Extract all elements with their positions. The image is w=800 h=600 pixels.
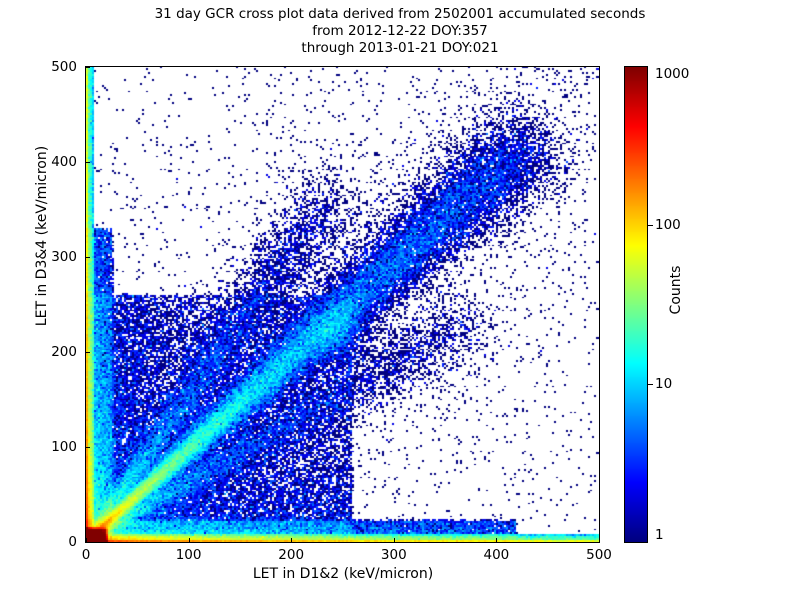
chart-title-line-1: 31 day GCR cross plot data derived from … <box>0 6 800 23</box>
x-tick-mark <box>291 538 292 542</box>
colorbar-canvas <box>625 67 647 542</box>
y-tick-mark <box>86 447 90 448</box>
x-tick-mark <box>394 538 395 542</box>
y-tick-label: 0 <box>29 534 77 550</box>
x-tick-mark <box>599 538 600 542</box>
x-tick-label: 200 <box>278 547 304 563</box>
colorbar-title: Counts <box>668 220 684 360</box>
x-tick-label: 0 <box>82 547 91 563</box>
y-tick-label: 100 <box>29 439 77 455</box>
heatmap-layer <box>86 67 599 542</box>
y-tick-mark <box>86 67 90 68</box>
x-tick-label: 300 <box>381 547 407 563</box>
colorbar-tick-label: 10 <box>655 376 672 392</box>
y-tick-mark <box>86 352 90 353</box>
chart-title: 31 day GCR cross plot data derived from … <box>0 6 800 57</box>
y-tick-mark <box>86 162 90 163</box>
x-axis-label: LET in D1&2 (keV/micron) <box>0 566 686 582</box>
colorbar-tick-mark <box>648 225 653 226</box>
x-tick-label: 500 <box>586 547 612 563</box>
colorbar-tick-label: 1 <box>655 527 664 543</box>
y-tick-label: 500 <box>29 59 77 75</box>
x-tick-label: 400 <box>484 547 510 563</box>
colorbar[interactable]: 1000100101 <box>624 66 648 543</box>
y-tick-mark <box>86 257 90 258</box>
figure-canvas: 31 day GCR cross plot data derived from … <box>0 0 800 600</box>
x-tick-mark <box>496 538 497 542</box>
colorbar-tick-mark <box>648 384 653 385</box>
y-tick-mark <box>86 542 90 543</box>
x-tick-mark <box>189 538 190 542</box>
colorbar-gradient <box>624 66 648 543</box>
y-axis-label: LET in D3&4 (keV/micron) <box>34 106 50 366</box>
colorbar-tick-label: 1000 <box>655 66 689 82</box>
plot-area[interactable] <box>85 66 600 543</box>
x-tick-label: 100 <box>176 547 202 563</box>
chart-title-line-2: from 2012-12-22 DOY:357 <box>0 23 800 40</box>
chart-title-line-3: through 2013-01-21 DOY:021 <box>0 40 800 57</box>
